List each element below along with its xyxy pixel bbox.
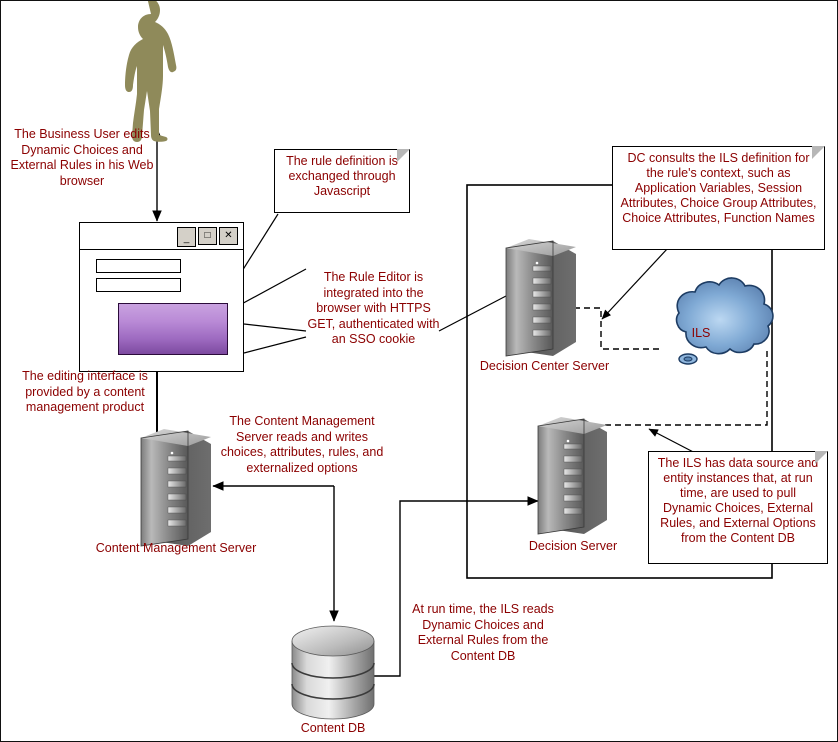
leader-dc-consults	[602, 248, 668, 319]
diagram-canvas: _ □ ✕ The rule definition is exchanged t…	[0, 0, 838, 742]
label-decision-center-server: Decision Center Server	[467, 359, 622, 374]
browser-titlebar: _ □ ✕	[80, 223, 243, 250]
note-dc-consults: DC consults the ILS definition for the r…	[612, 146, 825, 250]
window-controls: _ □ ✕	[177, 227, 238, 247]
note-rule-definition-text: The rule definition is exchanged through…	[286, 154, 398, 198]
decision-center-server-icon	[506, 239, 576, 356]
dashed-dcs-to-ils	[574, 308, 661, 349]
content-db-icon	[292, 626, 374, 719]
label-ils-cloud: ILS	[681, 326, 721, 341]
rule-editor-panel[interactable]	[118, 303, 228, 355]
leader-purple-bottom	[244, 337, 306, 353]
browser-input-field-1[interactable]	[96, 259, 181, 273]
label-content-management-server: Content Management Server	[81, 541, 271, 556]
annotation-editing-interface: The editing interface is provided by a c…	[9, 369, 161, 416]
annotation-business-user: The Business User edits Dynamic Choices …	[7, 127, 157, 189]
maximize-icon[interactable]: □	[198, 227, 217, 245]
note-ils-datasource-text: The ILS has data source and entity insta…	[658, 456, 819, 545]
leader-purple-top	[244, 324, 306, 331]
web-browser-window[interactable]: _ □ ✕	[79, 222, 244, 372]
note-fold-icon	[397, 149, 410, 162]
connector-ruleeditor-to-dcs	[439, 296, 506, 331]
content-management-server-icon	[141, 429, 211, 546]
annotation-rule-editor: The Rule Editor is integrated into the b…	[306, 270, 441, 348]
note-fold-icon	[812, 146, 825, 159]
annotation-runtime-ils: At run time, the ILS reads Dynamic Choic…	[401, 602, 565, 664]
business-user-figure	[125, 1, 176, 142]
label-decision-server: Decision Server	[504, 539, 642, 554]
label-content-db: Content DB	[283, 721, 383, 736]
annotation-content-management: The Content Management Server reads and …	[216, 414, 388, 476]
note-ils-datasource: The ILS has data source and entity insta…	[648, 451, 828, 564]
minimize-icon[interactable]: _	[177, 227, 196, 247]
browser-input-field-2[interactable]	[96, 278, 181, 292]
ils-cloud-icon	[677, 278, 773, 364]
note-fold-icon	[815, 451, 828, 464]
note-dc-consults-text: DC consults the ILS definition for the r…	[621, 151, 817, 225]
decision-server-icon	[538, 417, 607, 534]
note-rule-definition: The rule definition is exchanged through…	[274, 149, 410, 213]
close-icon[interactable]: ✕	[219, 227, 238, 245]
